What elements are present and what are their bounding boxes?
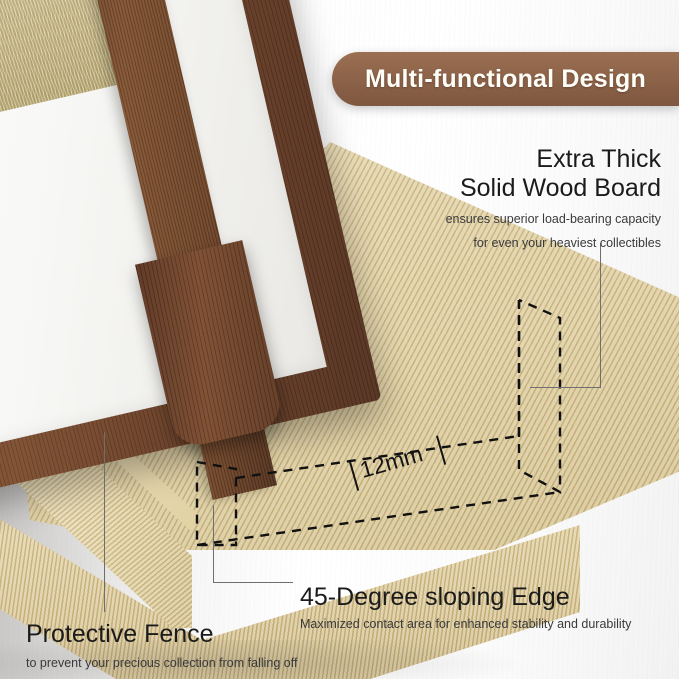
title-banner: Multi-functional Design [332, 52, 679, 106]
callout-sub-line1: ensures superior load-bearing capacity [446, 211, 661, 227]
callout-title-line1: Extra Thick [446, 145, 661, 174]
product-marketing-image: 12mm Multi-functional Design Extra Thick… [0, 0, 679, 679]
leader-line-sloping-edge-vertical [213, 505, 214, 583]
callout-title-line1: Protective Fence [26, 620, 297, 649]
callout-sub-line1: Maximized contact area for enhanced stab… [300, 616, 631, 632]
callout-sub-line1: to prevent your precious collection from… [26, 655, 297, 671]
leader-line-thick-board-horizontal [530, 387, 601, 388]
callout-title-line2: Solid Wood Board [446, 174, 661, 203]
callout-extra-thick-board: Extra Thick Solid Wood Board ensures sup… [446, 145, 661, 251]
callout-title-line1: 45-Degree sloping Edge [300, 583, 631, 612]
callout-protective-fence: Protective Fence to prevent your preciou… [26, 620, 297, 671]
callout-sloping-edge: 45-Degree sloping Edge Maximized contact… [300, 583, 631, 632]
callout-sub-line2: for even your heaviest collectibles [446, 235, 661, 251]
leader-line-thick-board-vertical [600, 243, 601, 388]
leader-line-protective-fence [104, 432, 105, 612]
title-banner-label: Multi-functional Design [365, 65, 646, 94]
leader-line-sloping-edge-horizontal [213, 582, 293, 583]
